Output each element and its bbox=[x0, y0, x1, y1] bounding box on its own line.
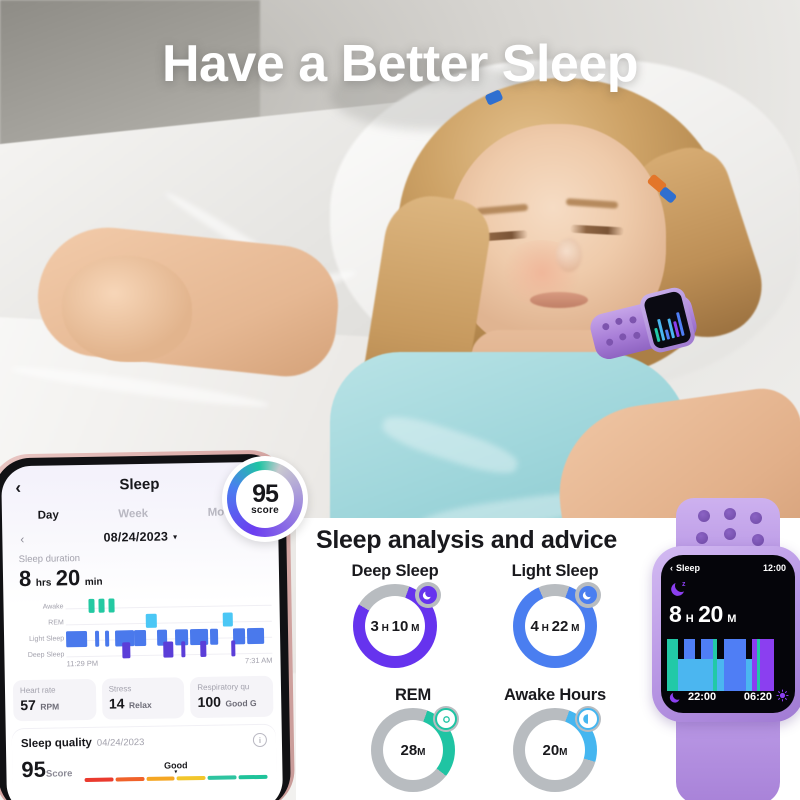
rem-icon bbox=[433, 706, 459, 732]
sleep-start-time: 11:29 PM bbox=[66, 659, 98, 669]
quality-scale-segment bbox=[115, 777, 144, 782]
watch-clock: 12:00 bbox=[763, 563, 786, 573]
ring-center: 20M bbox=[525, 720, 585, 780]
sleep-quality-card: Sleep quality 04/24/2023 i 95Score Good … bbox=[12, 725, 277, 794]
metric-value-row: 100 Good G bbox=[197, 693, 266, 712]
watch-back-label: Sleep bbox=[676, 563, 700, 573]
ring-card-awake-hours: Awake Hours20M bbox=[480, 686, 630, 792]
ring-label: Awake Hours bbox=[480, 686, 630, 705]
duration-hours: 8 bbox=[19, 566, 32, 591]
watch-hours: 8 bbox=[669, 601, 681, 627]
watch-chart-bar bbox=[724, 639, 746, 691]
watch-minutes: 20 bbox=[698, 601, 723, 627]
sleep-duration-value: 8 hrs 20 min bbox=[3, 561, 279, 593]
watch-chart-column bbox=[717, 639, 724, 691]
hypnogram-chart: AwakeREMLight SleepDeep Sleep 11:29 PM 7… bbox=[7, 594, 276, 673]
prev-day-icon[interactable]: ‹ bbox=[20, 532, 24, 546]
quality-scale-segment bbox=[146, 776, 175, 781]
chevron-down-icon[interactable]: ▾ bbox=[173, 532, 177, 541]
watch-chart-column bbox=[724, 639, 746, 691]
quality-scale: Good ▾ bbox=[84, 759, 267, 782]
hypnogram-segment bbox=[134, 630, 147, 646]
hypnogram-segment bbox=[66, 631, 87, 647]
hypnogram-segment bbox=[210, 629, 219, 645]
ring-gauge: 4 H 22 M bbox=[513, 584, 597, 668]
sleep-quality-title: Sleep quality bbox=[21, 737, 92, 750]
metric-unit: Good G bbox=[225, 698, 256, 709]
watch-chart-bar bbox=[717, 659, 724, 691]
sleep-stage-rings: Deep Sleep3 H 10 MLight Sleep4 H 22 MREM… bbox=[320, 562, 620, 800]
ring-value: 28M bbox=[400, 742, 425, 759]
hypnogram-segment bbox=[231, 640, 235, 656]
hypnogram-segment bbox=[200, 641, 206, 657]
metric-value: 57 bbox=[20, 697, 36, 713]
metric-title: Heart rate bbox=[20, 685, 89, 695]
watch-mini-chart bbox=[651, 310, 684, 342]
smartwatch-mockup: ‹Sleep 12:00 z 8 H 20 M bbox=[628, 500, 800, 800]
quality-score-unit: Score bbox=[46, 768, 73, 779]
moon-z-icon: z bbox=[670, 579, 690, 599]
watch-minutes-unit: M bbox=[727, 613, 736, 625]
watch-case: ‹Sleep 12:00 z 8 H 20 M bbox=[652, 546, 800, 722]
duration-minutes-unit: min bbox=[85, 577, 103, 588]
info-icon[interactable]: i bbox=[253, 733, 267, 747]
watch-chart-column bbox=[684, 639, 695, 691]
watch-chart-column bbox=[760, 639, 774, 691]
quality-scale-bars bbox=[84, 775, 267, 782]
ring-value: 20M bbox=[542, 742, 567, 759]
quality-score-value: 95 bbox=[21, 757, 46, 782]
ring-center: 4 H 22 M bbox=[525, 596, 585, 656]
watch-sleep-chart bbox=[667, 639, 795, 691]
hypnogram-segment bbox=[98, 599, 104, 613]
ring-value: 4 H 22 M bbox=[531, 618, 580, 635]
watch-bedtime: 22:00 bbox=[688, 691, 716, 703]
score-value: 95 bbox=[252, 483, 278, 505]
hypnogram-segment bbox=[163, 641, 174, 657]
hypnogram-segment bbox=[105, 631, 109, 647]
metric-card-respiratory[interactable]: Respiratory qu 100 Good G bbox=[190, 676, 273, 718]
ring-card-light-sleep: Light Sleep4 H 22 M bbox=[480, 562, 630, 668]
sleep-quality-date: 04/24/2023 bbox=[97, 736, 145, 748]
watch-sleep-duration: 8 H 20 M bbox=[669, 601, 736, 628]
hypnogram-segment bbox=[247, 628, 264, 644]
hypnogram-axis-label: Deep Sleep bbox=[28, 651, 65, 659]
ring-card-rem: REM28M bbox=[338, 686, 488, 792]
child-nose bbox=[556, 238, 582, 272]
watch-band-bottom bbox=[676, 712, 780, 800]
metric-cards: Heart rate 57 RPM Stress 14 Relax Respir… bbox=[5, 668, 282, 722]
ring-center: 28M bbox=[383, 720, 443, 780]
metric-title: Stress bbox=[109, 683, 178, 693]
sun-icon bbox=[776, 689, 789, 705]
hypnogram-segment bbox=[109, 598, 115, 612]
hypnogram-segment bbox=[122, 642, 131, 658]
watch-hours-unit: H bbox=[686, 613, 694, 625]
ring-label: Light Sleep bbox=[480, 562, 630, 581]
moon-icon bbox=[415, 582, 441, 608]
ring-card-deep-sleep: Deep Sleep3 H 10 M bbox=[320, 562, 470, 668]
child-hand-left bbox=[62, 256, 192, 362]
poster-canvas: Have a Better Sleep Sleep analysis and a… bbox=[0, 0, 800, 800]
sleep-quality-header: Sleep quality 04/24/2023 i bbox=[21, 733, 267, 751]
sleep-end-time: 7:31 AM bbox=[245, 656, 273, 665]
metric-value: 14 bbox=[109, 695, 125, 711]
hypnogram-axis-label: Awake bbox=[43, 603, 64, 610]
page-headline: Have a Better Sleep bbox=[0, 34, 800, 94]
quality-scale-segment bbox=[177, 776, 206, 781]
sleep-quality-body: 95Score Good ▾ bbox=[21, 753, 267, 783]
watch-chart-bar bbox=[667, 639, 678, 691]
metric-card-stress[interactable]: Stress 14 Relax bbox=[101, 677, 184, 719]
analysis-panel-title: Sleep analysis and advice bbox=[316, 526, 617, 555]
metric-title: Respiratory qu bbox=[197, 682, 266, 692]
awake-icon bbox=[575, 706, 601, 732]
score-ring: 95 score bbox=[227, 461, 303, 537]
metric-value-row: 14 Relax bbox=[109, 694, 178, 713]
hypnogram-axis-labels: AwakeREMLight SleepDeep Sleep bbox=[7, 597, 64, 660]
watch-sleep-window: 22:00 06:20 bbox=[669, 689, 789, 705]
hypnogram-plot bbox=[65, 594, 272, 660]
sleep-quality-score: 95Score bbox=[21, 756, 72, 783]
hypnogram-gridline bbox=[66, 621, 272, 626]
watch-chart-bar bbox=[701, 639, 713, 691]
hypnogram-axis-label: REM bbox=[48, 619, 64, 626]
tab-week[interactable]: Week bbox=[118, 508, 148, 521]
score-unit: score bbox=[251, 505, 279, 516]
ring-center: 3 H 10 M bbox=[365, 596, 425, 656]
hypnogram-segment bbox=[88, 599, 94, 613]
metric-value-row: 57 RPM bbox=[20, 696, 89, 715]
ring-gauge: 28M bbox=[371, 708, 455, 792]
quality-scale-segment bbox=[84, 778, 113, 783]
ring-gauge: 20M bbox=[513, 708, 597, 792]
watch-back-icon[interactable]: ‹Sleep bbox=[670, 563, 700, 573]
sleep-score-badge: 95 score bbox=[222, 456, 308, 542]
ring-value: 3 H 10 M bbox=[371, 618, 420, 635]
quality-scale-segment bbox=[208, 775, 237, 780]
hypnogram-segment bbox=[222, 612, 233, 626]
watch-screen: ‹Sleep 12:00 z 8 H 20 M bbox=[661, 555, 795, 713]
metric-card-heart-rate[interactable]: Heart rate 57 RPM bbox=[13, 679, 96, 721]
child-mouth bbox=[530, 292, 588, 308]
metric-unit: Relax bbox=[129, 700, 152, 710]
svg-text:z: z bbox=[682, 581, 686, 588]
watch-chart-bar bbox=[760, 639, 774, 691]
watch-chart-column bbox=[667, 639, 678, 691]
watch-screen bbox=[643, 290, 692, 350]
metric-value: 100 bbox=[197, 694, 221, 710]
watch-status-bar: ‹Sleep 12:00 bbox=[670, 563, 786, 573]
duration-minutes: 20 bbox=[56, 565, 81, 590]
ring-label: REM bbox=[338, 686, 488, 705]
moon-icon bbox=[669, 690, 684, 705]
hypnogram-axis-label: Light Sleep bbox=[29, 635, 64, 643]
score-center: 95 score bbox=[236, 470, 294, 528]
ring-gauge: 3 H 10 M bbox=[353, 584, 437, 668]
selected-date: 08/24/2023 bbox=[103, 530, 168, 545]
moon-icon bbox=[575, 582, 601, 608]
ring-label: Deep Sleep bbox=[320, 562, 470, 581]
hypnogram-gridline bbox=[66, 605, 272, 610]
duration-hours-unit: hrs bbox=[36, 578, 52, 589]
tab-day[interactable]: Day bbox=[38, 509, 59, 521]
watch-waketime: 06:20 bbox=[744, 691, 772, 703]
quality-scale-segment bbox=[239, 775, 268, 780]
hypnogram-segment bbox=[95, 631, 99, 647]
watch-chart-bar bbox=[684, 639, 695, 691]
metric-unit: RPM bbox=[40, 701, 59, 711]
hypnogram-segment bbox=[146, 614, 157, 628]
watch-chart-column bbox=[701, 639, 713, 691]
